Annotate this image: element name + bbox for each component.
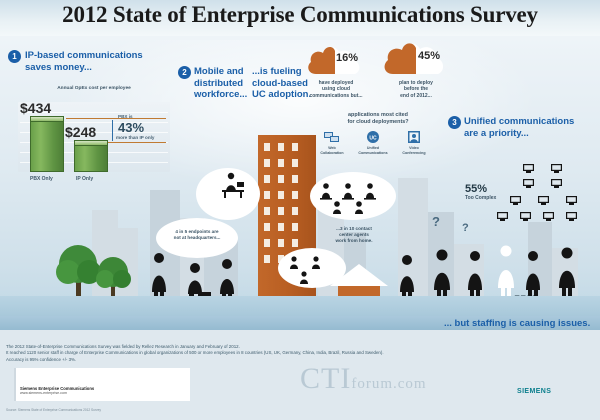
building-window	[264, 175, 270, 183]
network-node-icon	[551, 160, 562, 169]
cloud-cap-line1: plan to deploy	[399, 80, 433, 86]
bubble-callcenter-line3: work from home.	[335, 238, 372, 243]
section-two-right-line1: ...is fueling	[252, 66, 302, 77]
desk-worker-silhouette	[218, 170, 248, 205]
building-window	[278, 223, 284, 231]
infographic-poster: 2012 State of Enterprise Communications …	[0, 0, 600, 420]
building-window	[264, 239, 270, 247]
step-badge-3: 3	[448, 116, 461, 129]
bubble-callcenter-text: ...3 in 10 contact center agents work fr…	[312, 226, 396, 244]
cloud-caption-16: have deployed using cloud communications…	[296, 80, 376, 99]
building-window	[264, 207, 270, 215]
section-two-heading-left: Mobile and distributed workforce...	[194, 66, 252, 101]
building-window	[264, 255, 270, 263]
apps-question-line2: for cloud deployments?	[347, 119, 408, 125]
bar-category-ip: IP Only	[76, 176, 93, 182]
network-node-icon	[551, 175, 562, 184]
apps-question: applications most cited for cloud deploy…	[312, 112, 444, 126]
annotation-rule-top	[66, 118, 166, 119]
network-node-icon	[497, 208, 508, 217]
network-node-icon	[520, 208, 531, 217]
bubble-endpoints-line2: not at headquarters...	[174, 235, 221, 240]
building-window	[292, 207, 298, 215]
footer-note-line1: The 2012 State-of-Enterprise Communicati…	[6, 344, 240, 349]
network-node-icon	[523, 160, 534, 169]
section-one-heading-line2: saves money...	[25, 62, 92, 73]
section-three-line2: are a priority...	[464, 128, 529, 139]
watermark-sub: forum.com	[351, 376, 426, 392]
stat-too-complex-label: Too Complex	[465, 195, 496, 201]
bubble-endpoints-line1: 4 in 5 endpoints are	[175, 229, 218, 234]
siemens-logo: SIEMENS	[517, 388, 551, 395]
step-badge-1: 1	[8, 50, 21, 63]
cloud-cap-line1: have deployed	[319, 80, 354, 86]
cloud-16-percent: 16%	[306, 44, 364, 78]
footer-note-line2: It reached 1120 senior staff in charge o…	[6, 350, 384, 355]
chart-caption: Annual OpEx cost per employee	[24, 86, 164, 91]
question-mark-icon: ?	[462, 222, 469, 234]
cloud-45-percent: 45%	[382, 40, 448, 78]
annotation-percent: 43%	[118, 120, 144, 135]
building-window	[278, 175, 284, 183]
building-window	[292, 223, 298, 231]
bubble-endpoints-text: 4 in 5 endpoints are not at headquarters…	[158, 229, 236, 241]
building-window	[278, 207, 284, 215]
brand-box	[14, 368, 190, 401]
annotation-line2: more than IP only	[116, 135, 154, 140]
building-window	[292, 175, 298, 183]
video-conferencing-icon[interactable]	[406, 130, 422, 144]
building-window	[292, 239, 298, 247]
section-one-heading-line1: IP-based communications	[25, 50, 143, 61]
step-badge-2: 2	[178, 66, 191, 79]
footer-note-line3: Accuracy is 95% confidence +/- 3%.	[6, 357, 76, 362]
footer-methodology-note: The 2012 State-of-Enterprise Communicati…	[6, 344, 526, 363]
section-two-line3: workforce...	[194, 89, 247, 100]
bubble-callcenter-line2: center agents	[339, 232, 369, 237]
section-three-heading: Unified communications are a priority...	[464, 116, 594, 139]
network-node-icon	[538, 192, 549, 201]
watermark-main: CTI	[300, 362, 351, 395]
section-two-line1: Mobile and	[194, 66, 244, 77]
network-node-icon	[566, 208, 577, 217]
bar-value-ip: $248	[65, 124, 96, 140]
building-window	[278, 159, 284, 167]
building-window	[292, 191, 298, 199]
closing-statement: ... but staffing is causing issues.	[444, 318, 590, 329]
bar-value-pbx: $434	[20, 100, 51, 116]
apps-question-line1: applications most cited	[348, 112, 408, 118]
building-window	[264, 143, 270, 151]
building-window	[292, 143, 298, 151]
stat-too-complex-value: 55%	[465, 183, 487, 195]
cloud-percent-45: 45%	[418, 50, 440, 62]
cloud-caption-45: plan to deploy before the end of 2012...	[378, 80, 454, 99]
brand-url[interactable]: www.siemens-enterprise.com	[20, 391, 67, 395]
building-window	[264, 159, 270, 167]
cti-forum-watermark: CTIforum.com	[300, 362, 427, 396]
building-window	[292, 159, 298, 167]
bar-ip-only	[74, 145, 108, 172]
source-copyright: Source: Siemens State of Enterprise Comm…	[6, 408, 101, 412]
section-two-line2: distributed	[194, 78, 243, 89]
svg-text:UC: UC	[369, 136, 377, 142]
bar-category-pbx: PBX Only	[30, 176, 53, 182]
web-collaboration-label: Web Collaboration	[315, 146, 349, 155]
building-window	[264, 223, 270, 231]
annotation-arrow	[112, 120, 113, 141]
cloud-percent-16: 16%	[336, 52, 358, 64]
cloud-cap-line2: before the	[404, 86, 428, 92]
opex-bar-chart: Annual OpEx cost per employee $434 PBX O…	[8, 98, 176, 186]
question-mark-icon: ?	[432, 214, 440, 229]
cloud-cap-line2: using cloud	[322, 86, 350, 92]
unified-communications-label: Unified Communications	[356, 146, 390, 155]
annotation-line1: PBX is	[118, 114, 133, 119]
section-three-line1: Unified communications	[464, 116, 574, 127]
bubble-callcenter-line1: ...3 in 10 contact	[336, 226, 372, 231]
network-node-icon	[523, 175, 534, 184]
building-window	[278, 191, 284, 199]
building-window	[278, 143, 284, 151]
network-node-icon	[510, 192, 521, 201]
cloud-cap-line3: communications but...	[309, 93, 362, 99]
building-window	[264, 191, 270, 199]
annotation-rule-bottom	[108, 142, 166, 143]
building-window	[278, 239, 284, 247]
network-node-icon	[543, 208, 554, 217]
callcenter-agents-silhouette	[318, 180, 388, 219]
video-conferencing-label: Video Conferencing	[397, 146, 431, 155]
section-one-heading: IP-based communications saves money...	[25, 50, 175, 73]
unified-communications-icon[interactable]: UC	[365, 130, 381, 144]
bar-pbx-only	[30, 121, 64, 172]
cloud-cap-line3: end of 2012...	[400, 93, 432, 99]
web-collaboration-icon[interactable]	[324, 130, 340, 144]
network-node-icon	[566, 192, 577, 201]
page-title: 2012 State of Enterprise Communications …	[0, 2, 600, 28]
